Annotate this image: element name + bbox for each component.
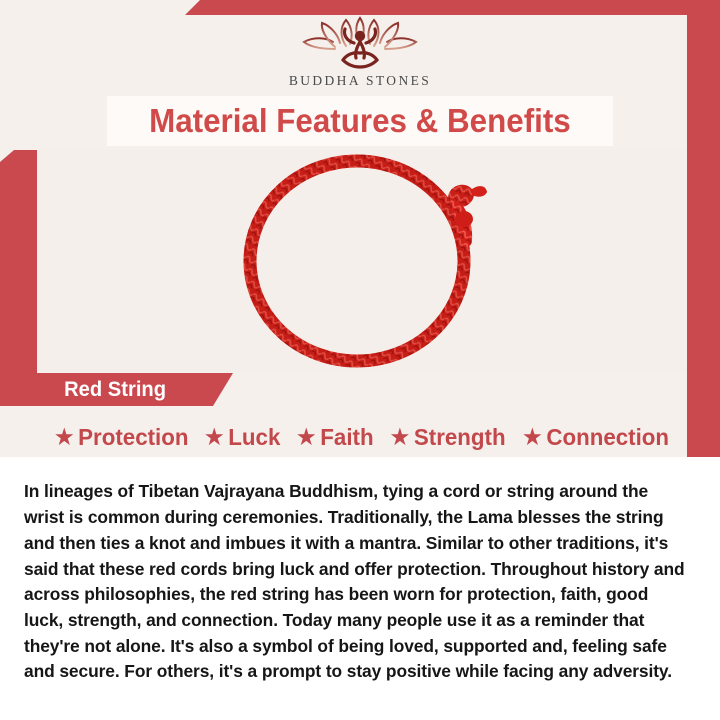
benefit-label: Faith <box>320 424 373 451</box>
brand-logo: BUDDHA STONES <box>0 16 720 94</box>
star-icon: ★ <box>523 427 541 448</box>
star-icon: ★ <box>55 427 73 448</box>
product-label-banner: Red String <box>0 373 233 406</box>
benefit-item-connection: ★ Connection <box>523 424 669 451</box>
page-title: Material Features & Benefits <box>149 102 571 140</box>
benefit-label: Protection <box>78 424 188 451</box>
benefit-label: Luck <box>229 424 281 451</box>
lotus-meditation-figure-icon <box>301 16 419 72</box>
benefit-item-luck: ★ Luck <box>205 424 280 451</box>
benefit-item-strength: ★ Strength <box>390 424 505 451</box>
star-icon: ★ <box>297 427 315 448</box>
top-accent-stripe <box>0 0 720 15</box>
infographic-page: BUDDHA STONES Material Features & Benefi… <box>0 0 720 720</box>
description-panel: In lineages of Tibetan Vajrayana Buddhis… <box>0 457 720 720</box>
benefit-item-protection: ★ Protection <box>55 424 188 451</box>
brand-name: BUDDHA STONES <box>289 73 431 89</box>
product-photo <box>37 150 687 372</box>
description-text: In lineages of Tibetan Vajrayana Buddhis… <box>24 479 690 685</box>
benefits-row: ★ Protection ★ Luck ★ Faith ★ Strength ★… <box>37 418 687 456</box>
left-accent-bar <box>0 150 37 385</box>
benefit-item-faith: ★ Faith <box>297 424 373 451</box>
benefit-label: Strength <box>413 424 505 451</box>
red-string-bracelet-image <box>231 153 493 369</box>
title-banner: Material Features & Benefits <box>107 96 613 146</box>
benefit-label: Connection <box>546 424 669 451</box>
star-icon: ★ <box>205 427 223 448</box>
star-icon: ★ <box>390 427 408 448</box>
product-label: Red String <box>64 378 166 402</box>
